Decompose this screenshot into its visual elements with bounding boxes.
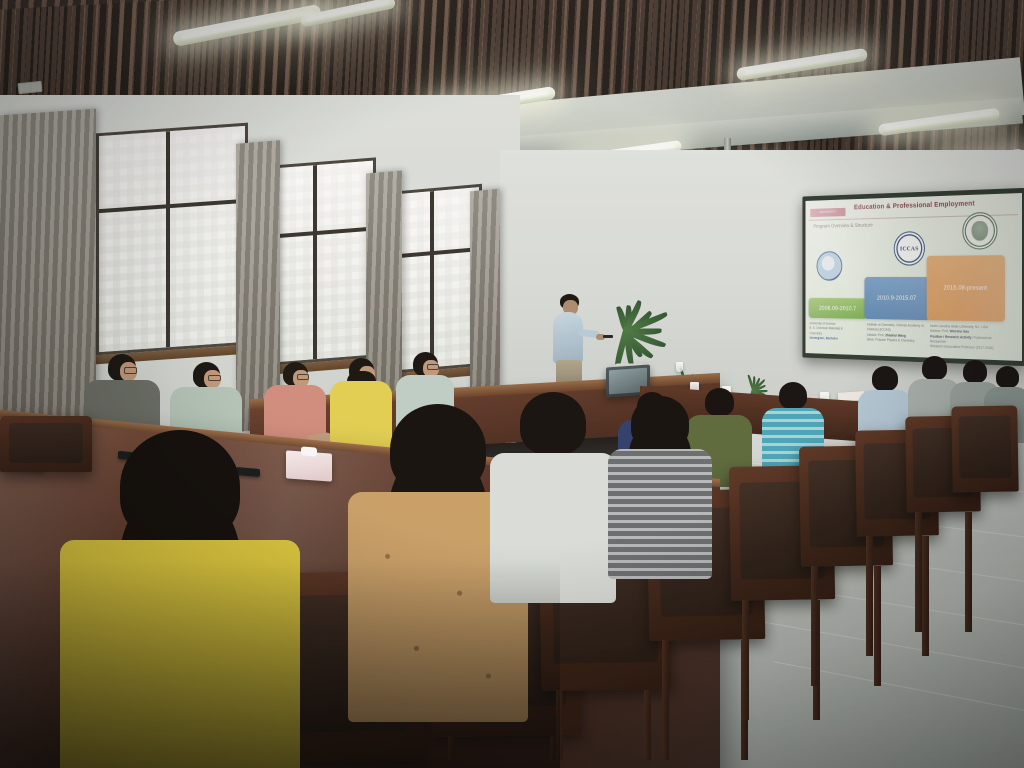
col2-work-label: Work: bbox=[867, 337, 875, 341]
timeline-block-graduate: 2010.9-2015.07 bbox=[864, 277, 929, 320]
chair-leg-b-8 bbox=[922, 536, 929, 656]
iccas-seal-icon: ICCAS bbox=[894, 231, 925, 266]
slide-logo-badge: UNIVERSITY bbox=[810, 208, 845, 217]
institute-emblem-icon bbox=[962, 212, 997, 250]
chair-leg-b-7 bbox=[874, 566, 881, 686]
timeline-block-current: 2015.08-present bbox=[927, 255, 1005, 322]
slide-badge-text: UNIVERSITY bbox=[810, 208, 845, 217]
chair-leg-6 bbox=[742, 600, 749, 720]
tissue-box bbox=[286, 450, 332, 481]
chair-leg-7 bbox=[811, 566, 818, 686]
slide-column-graduate: Institute of Chemistry, Chinese Academy … bbox=[867, 323, 927, 344]
slide-subtitle: Program Overview & Structure bbox=[813, 223, 872, 230]
col2-advisor-name: Zhaohui Wang bbox=[885, 333, 905, 337]
slide-column-current: North Carolina State University, NC, USA… bbox=[930, 324, 1007, 352]
col2-work: Work: Polymer Physics & Chemistry bbox=[867, 337, 927, 344]
chair-leg-b-4 bbox=[644, 690, 651, 760]
col3-advisor-name: Wenshu Gao bbox=[950, 330, 969, 334]
window-1 bbox=[96, 123, 248, 356]
chair-leg-b-9 bbox=[965, 512, 972, 632]
timeline-block-undergraduate: 2006.09-2010.7 bbox=[809, 298, 867, 319]
chair-11 bbox=[0, 416, 92, 472]
presenter-torso bbox=[553, 312, 583, 364]
chair-leg-8 bbox=[866, 536, 873, 656]
cup-4 bbox=[676, 362, 683, 372]
curtain-4 bbox=[470, 189, 500, 408]
projection-screen: UNIVERSITY Education & Professional Empl… bbox=[806, 193, 1022, 361]
chair-leg-4 bbox=[556, 690, 563, 760]
chair-leg-9 bbox=[915, 512, 922, 632]
col3-extra: Research Association Professor (2017-201… bbox=[930, 344, 1007, 352]
slide-column-undergraduate: University of Science B. S. Chemical Mat… bbox=[809, 321, 864, 342]
col3-advisor-label: Advisor: Prof. bbox=[930, 329, 949, 333]
chair-leg-5 bbox=[662, 640, 669, 760]
chair-10 bbox=[951, 405, 1018, 492]
col2-advisor-label: Advisor: Prof. bbox=[867, 332, 885, 336]
conference-room-photo: UNIVERSITY Education & Professional Empl… bbox=[0, 0, 1024, 768]
university-seal-blue-icon bbox=[817, 251, 843, 280]
chair-leg-3 bbox=[448, 736, 455, 760]
curtain-1 bbox=[0, 109, 96, 446]
slide-title: Education & Professional Employment bbox=[854, 199, 975, 212]
col2-work-value: Polymer Physics & Chemistry bbox=[875, 338, 914, 343]
col1-highlight: Undergrad., Bachelor bbox=[809, 336, 864, 342]
laser-pointer-icon bbox=[603, 335, 613, 338]
slide-content: UNIVERSITY Education & Professional Empl… bbox=[806, 193, 1022, 361]
iccas-seal-label: ICCAS bbox=[895, 246, 924, 253]
